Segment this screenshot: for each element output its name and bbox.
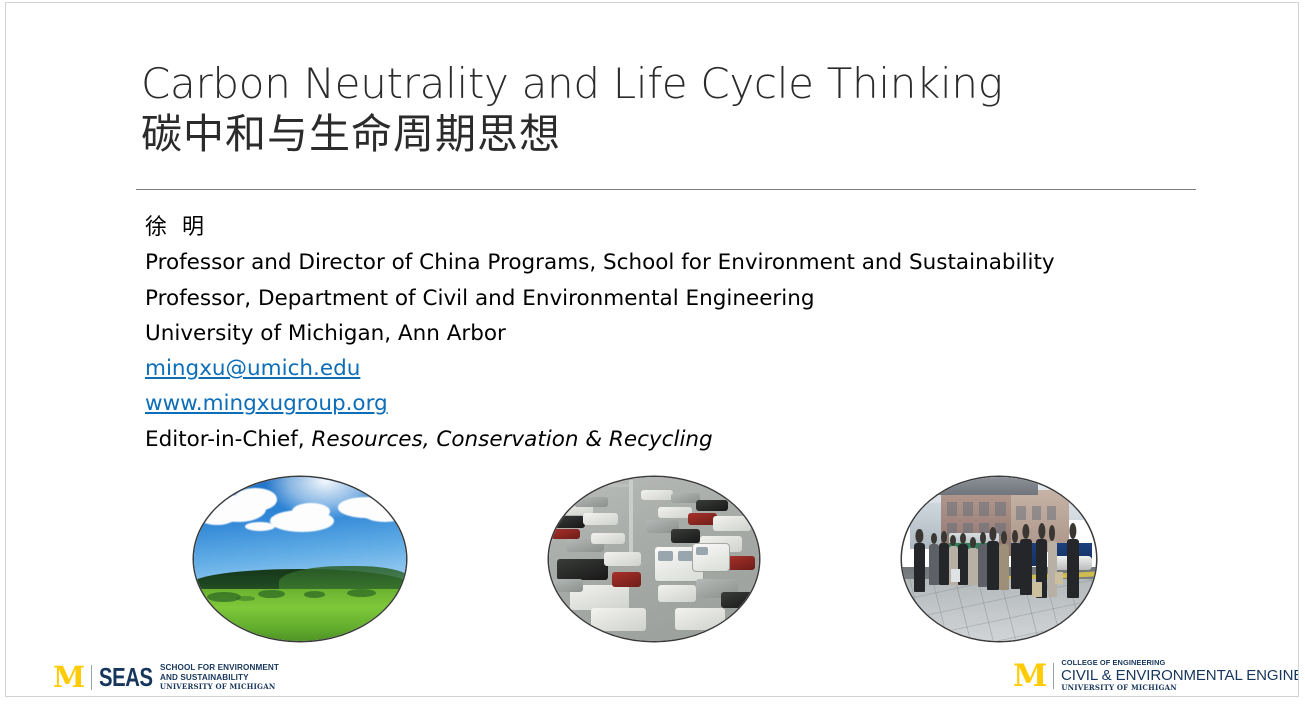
seas-wordmark: SEAS	[99, 662, 153, 693]
author-info-block: 徐 明 Professor and Director of China Prog…	[145, 210, 1145, 457]
affiliation-line-2: Professor, Department of Civil and Envir…	[145, 281, 1145, 316]
coe-logo-line-3: UNIVERSITY OF MICHIGAN	[1061, 684, 1299, 693]
meadow-region	[194, 589, 406, 641]
editor-role-prefix: Editor-in-Chief,	[145, 427, 311, 452]
editor-role-row: Editor-in-Chief, Resources, Conservation…	[145, 422, 1145, 457]
seas-logo-text: SCHOOL FOR ENVIRONMENT AND SUSTAINABILIT…	[160, 663, 285, 691]
email-link[interactable]: mingxu@umich.edu	[145, 356, 360, 381]
affiliation-line-1: Professor and Director of China Programs…	[145, 245, 1145, 280]
block-m-icon: M	[1013, 661, 1046, 692]
slide-title-chinese: 碳中和与生命周期思想	[141, 110, 1201, 158]
seas-logo: M SEAS SCHOOL FOR ENVIRONMENT AND SUSTAI…	[53, 662, 285, 692]
college-of-engineering-logo: M COLLEGE OF ENGINEERING CIVIL & ENVIRON…	[1013, 660, 1299, 692]
website-link[interactable]: www.mingxugroup.org	[145, 391, 388, 416]
meadow-and-sky-photo	[194, 477, 406, 641]
email-link-row: mingxu@umich.edu	[145, 351, 1145, 386]
bus-queue-photo	[902, 477, 1096, 641]
light-pole	[629, 480, 634, 552]
seas-logo-line-3: UNIVERSITY OF MICHIGAN	[160, 682, 285, 691]
traffic-jam-photo	[549, 477, 759, 641]
seas-logo-line-2: AND SUSTAINABILITY	[160, 673, 279, 683]
presentation-slide: Carbon Neutrality and Life Cycle Thinkin…	[5, 2, 1299, 697]
logo-divider	[91, 665, 92, 690]
journal-name: Resources, Conservation & Recycling	[311, 427, 712, 452]
website-link-row: www.mingxugroup.org	[145, 386, 1145, 421]
sky-region	[194, 477, 406, 579]
title-divider-rule	[136, 189, 1196, 190]
block-m-icon: M	[53, 663, 84, 692]
affiliation-line-3: University of Michigan, Ann Arbor	[145, 316, 1145, 351]
coe-logo-line-2: CIVIL & ENVIRONMENTAL ENGINEERING	[1061, 668, 1299, 685]
logo-divider	[1053, 663, 1054, 689]
slide-title-block: Carbon Neutrality and Life Cycle Thinkin…	[141, 60, 1201, 158]
author-name-chinese: 徐 明	[145, 210, 1145, 245]
slide-title-english: Carbon Neutrality and Life Cycle Thinkin…	[141, 60, 1201, 108]
canopy-overhang	[918, 477, 1038, 495]
coe-logo-text: COLLEGE OF ENGINEERING CIVIL & ENVIRONME…	[1061, 659, 1299, 693]
